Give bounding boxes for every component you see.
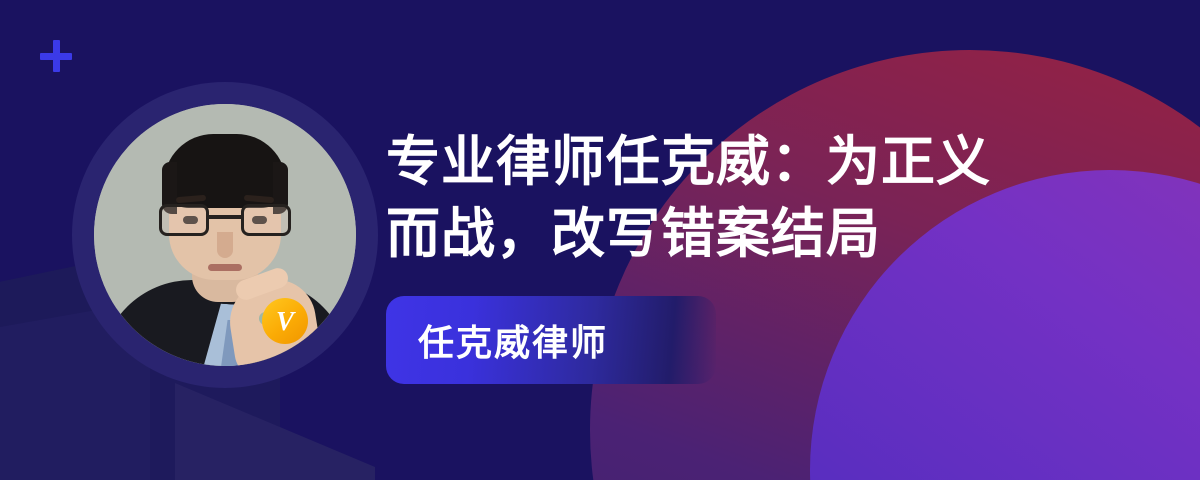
glasses-lens-right <box>241 204 291 236</box>
glasses-lens-left <box>159 204 209 236</box>
portrait-mouth <box>208 264 242 271</box>
promo-banner: V 专业律师任克威：为正义 而战，改写错案结局 任克威律师 <box>0 0 1200 480</box>
author-name-label: 任克威律师 <box>418 314 608 366</box>
portrait-nose <box>217 232 233 258</box>
page-title: 专业律师任克威：为正义 而战，改写错案结局 <box>386 126 1076 270</box>
avatar: V <box>72 82 378 388</box>
avatar-photo <box>94 104 356 366</box>
verified-badge-icon: V <box>262 298 308 344</box>
plus-icon <box>40 40 72 72</box>
glasses-bridge <box>209 215 241 219</box>
author-pill[interactable]: 任克威律师 <box>386 296 716 384</box>
